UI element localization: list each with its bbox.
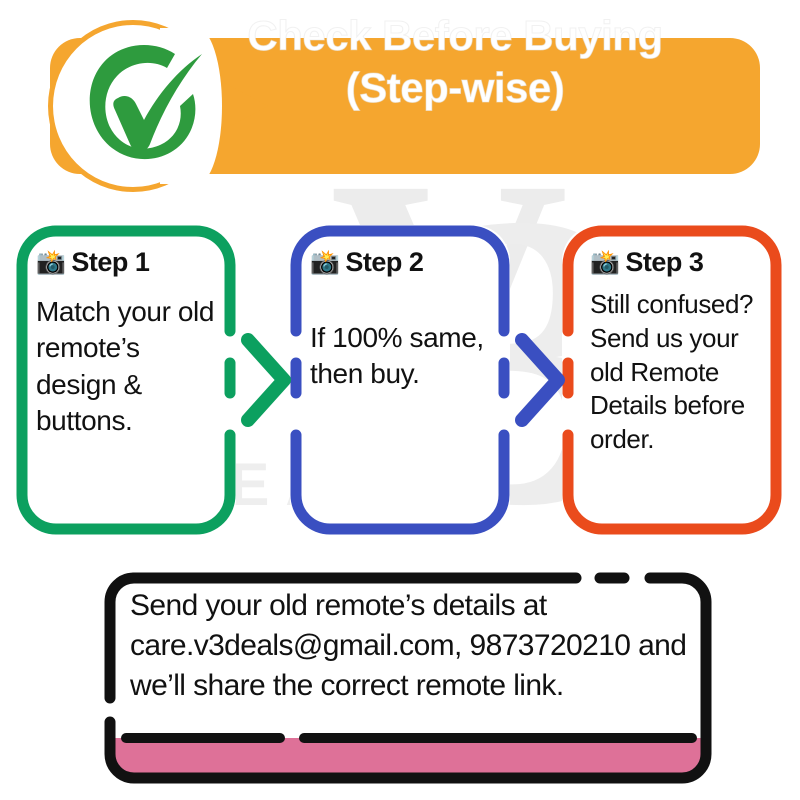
chevron-right-icon — [238, 330, 296, 430]
step-2-body: If 100% same, then buy. — [310, 320, 496, 393]
page-title-line-2: (Step-wise) — [215, 62, 695, 114]
step-2-heading: 📸 Step 2 — [310, 247, 496, 278]
green-check-mark-icon — [62, 32, 212, 182]
chevron-right-icon — [512, 330, 570, 430]
callout-text: Send your old remote’s details at care.v… — [130, 586, 696, 706]
step-card-2[interactable]: 📸 Step 2 If 100% same, then buy. — [290, 225, 510, 535]
step-card-1[interactable]: 📸 Step 1 Match your old remote’s design … — [16, 225, 236, 535]
step-card-3[interactable]: 📸 Step 3 Still confused? Send us your ol… — [562, 225, 782, 535]
step-1-heading: 📸 Step 1 — [36, 247, 222, 278]
step-3-heading-label: Step 3 — [625, 247, 703, 278]
step-1-heading-label: Step 1 — [71, 247, 149, 278]
camera-with-flash-icon: 📸 — [310, 251, 339, 275]
contact-callout[interactable]: Send your old remote’s details at care.v… — [104, 572, 712, 784]
step-2-heading-label: Step 2 — [345, 247, 423, 278]
page-title: Check Before Buying (Step-wise) — [215, 10, 695, 114]
camera-with-flash-icon: 📸 — [590, 251, 619, 275]
callout-accent-strip — [111, 738, 705, 777]
step-1-body: Match your old remote’s design & buttons… — [36, 294, 222, 440]
camera-with-flash-icon: 📸 — [36, 251, 65, 275]
step-3-body: Still confused? Send us your old Remote … — [590, 288, 768, 457]
page-title-line-1: Check Before Buying — [215, 10, 695, 62]
step-3-heading: 📸 Step 3 — [590, 247, 768, 278]
